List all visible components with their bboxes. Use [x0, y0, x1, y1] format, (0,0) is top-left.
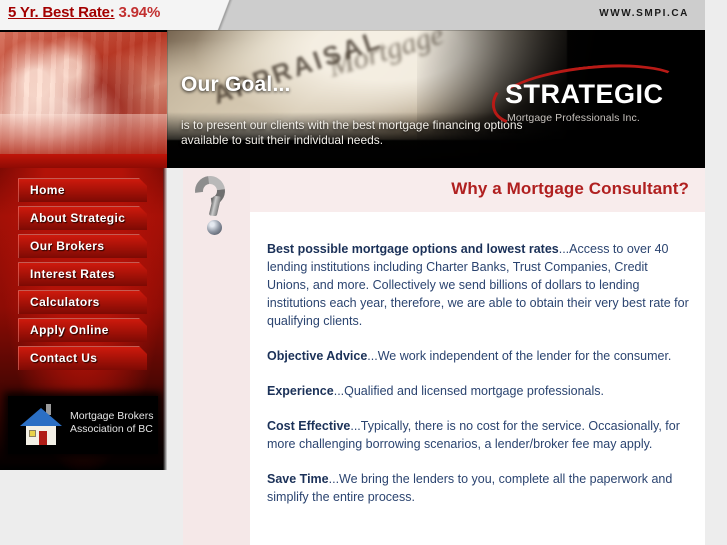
strategic-logo[interactable]: STRATEGIC Mortgage Professionals Inc.	[489, 72, 689, 134]
best-rate-value: 3.94%	[119, 4, 161, 21]
site-url-text: WWW.SMPI.CA	[599, 8, 689, 19]
sidebar-item-calculators[interactable]: Calculators	[18, 290, 147, 314]
mbabc-logo-line1: Mortgage Brokers	[70, 410, 153, 423]
goal-title: Our Goal...	[181, 73, 291, 97]
paragraph-lead: Experience	[267, 384, 334, 398]
paragraph-text: ...We bring the lenders to you, complete…	[267, 472, 672, 504]
sidebar-navigation: Home About Strategic Our Brokers Interes…	[0, 168, 167, 470]
sidebar-item-contact-us[interactable]: Contact Us	[18, 346, 147, 370]
sidebar-item-apply-online[interactable]: Apply Online	[18, 318, 147, 342]
goal-text: is to present our clients with the best …	[181, 118, 531, 148]
sidebar-item-label: Contact Us	[30, 351, 97, 365]
sidebar-item-label: About Strategic	[30, 211, 125, 225]
sidebar-item-label: Our Brokers	[30, 239, 104, 253]
sidebar-item-label: Apply Online	[30, 323, 109, 337]
sidebar-item-label: Interest Rates	[30, 267, 115, 281]
mbabc-logo-text: Mortgage Brokers Association of BC	[70, 410, 153, 435]
page-title-band: Why a Mortgage Consultant?	[250, 168, 705, 212]
banner: APPRAISAL Mortgage Our Goal... is to pre…	[167, 30, 705, 168]
sidebar-item-home[interactable]: Home	[18, 178, 147, 202]
content-left-gutter	[167, 168, 183, 545]
content-area: Why a Mortgage Consultant? Best possible…	[167, 168, 705, 545]
sidebar-item-interest-rates[interactable]: Interest Rates	[18, 262, 147, 286]
sidebar-item-our-brokers[interactable]: Our Brokers	[18, 234, 147, 258]
paragraph-cost-effective: Cost Effective...Typically, there is no …	[267, 417, 692, 453]
couple-photo	[0, 32, 167, 154]
paragraph-text: ...We work independent of the lender for…	[367, 349, 671, 363]
house-roof-icon	[20, 408, 62, 426]
couple-photo-foreground	[0, 114, 167, 154]
logo-name-text: STRATEGIC	[505, 79, 664, 110]
page-title: Why a Mortgage Consultant?	[451, 179, 689, 199]
top-bar-right-margin	[705, 0, 727, 30]
paragraph-lead: Cost Effective	[267, 419, 350, 433]
article-body: Best possible mortgage options and lowes…	[267, 240, 692, 523]
best-rate-text: 5 Yr. Best Rate: 3.94%	[8, 4, 160, 21]
paragraph-objective-advice: Objective Advice...We work independent o…	[267, 347, 692, 365]
logo-subtitle-text: Mortgage Professionals Inc.	[507, 112, 640, 124]
paragraph-lead: Best possible mortgage options and lowes…	[267, 242, 559, 256]
mbabc-logo-line2: Association of BC	[70, 423, 153, 436]
paragraph-lead: Save Time	[267, 472, 329, 486]
top-bar: 5 Yr. Best Rate: 3.94% WWW.SMPI.CA	[0, 0, 727, 30]
paragraph-experience: Experience...Qualified and licensed mort…	[267, 382, 692, 400]
best-rate-label: 5 Yr. Best Rate:	[8, 4, 115, 21]
sidebar-item-about-strategic[interactable]: About Strategic	[18, 206, 147, 230]
question-mark-dot	[207, 220, 222, 235]
house-window-icon	[29, 430, 36, 437]
sidebar-item-label: Home	[30, 183, 65, 197]
paragraph-lead: Objective Advice	[267, 349, 367, 363]
hero-photo-red-strip	[0, 154, 167, 168]
mbabc-logo[interactable]: Mortgage Brokers Association of BC	[8, 396, 158, 454]
house-door-icon	[39, 431, 47, 445]
rate-plate-diagonal-edge	[196, 0, 256, 30]
best-rate-plate: 5 Yr. Best Rate: 3.94%	[0, 0, 215, 30]
paragraph-text: ...Qualified and licensed mortgage profe…	[334, 384, 604, 398]
header-band: APPRAISAL Mortgage Our Goal... is to pre…	[0, 30, 705, 168]
paragraph-save-time: Save Time...We bring the lenders to you,…	[267, 470, 692, 506]
question-mark-icon	[193, 176, 239, 238]
sidebar-item-label: Calculators	[30, 295, 100, 309]
paragraph-best-options: Best possible mortgage options and lowes…	[267, 240, 692, 330]
house-icon	[20, 404, 62, 446]
